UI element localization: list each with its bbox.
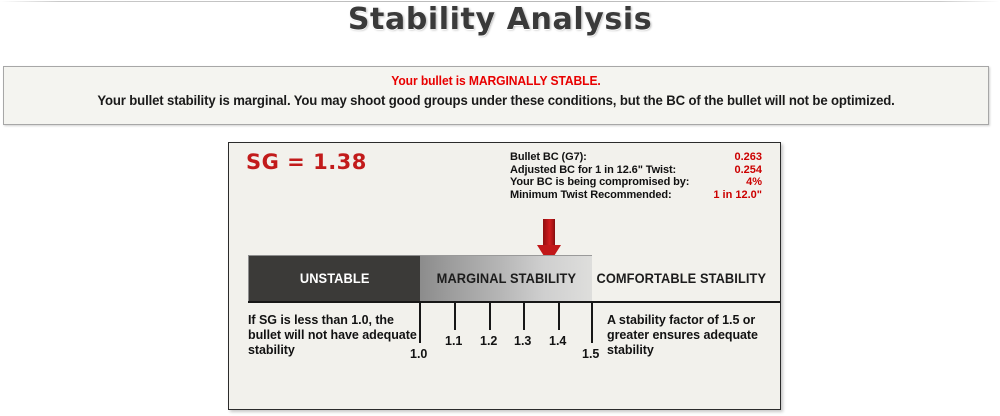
axis-tick-label: 1.3 — [514, 334, 531, 348]
stability-alert-box: Your bullet is MARGINALLY STABLE. Your b… — [3, 66, 989, 125]
axis-tick — [454, 303, 456, 330]
gauge-segment-label: MARGINAL STABILITY — [436, 271, 575, 286]
sg-readout: SG = 1.38 — [246, 150, 367, 174]
axis-tick — [489, 303, 491, 330]
bc-row-label: Bullet BC (G7): — [510, 151, 708, 164]
gauge-axis-line — [248, 301, 780, 303]
bc-row-value: 0.254 — [708, 164, 762, 177]
bc-row-value: 0.263 — [708, 151, 762, 164]
axis-tick — [591, 303, 593, 343]
stability-panel: SG = 1.38 Bullet BC (G7): 0.263 Adjusted… — [228, 142, 781, 410]
axis-tick-label: 1.4 — [549, 334, 566, 348]
stability-gauge: UNSTABLE MARGINAL STABILITY COMFORTABLE … — [248, 255, 771, 305]
gauge-segment-label: UNSTABLE — [300, 271, 370, 286]
bc-row-value: 1 in 12.0" — [708, 189, 762, 202]
unstable-description-text: If SG is less than 1.0, the bullet will … — [248, 313, 426, 358]
axis-tick — [523, 303, 525, 330]
alert-detail-text: Your bullet stability is marginal. You m… — [34, 92, 959, 108]
bc-row-label: Minimum Twist Recommended: — [510, 189, 708, 202]
page-title: Stability Analysis — [0, 2, 1000, 37]
comfortable-description-text: A stability factor of 1.5 or greater ens… — [607, 313, 777, 358]
gauge-segment-comfortable-stability: COMFORTABLE STABILITY — [592, 255, 771, 301]
arrow-shaft — [543, 219, 555, 247]
axis-tick-label: 1.5 — [582, 347, 599, 361]
table-row: Minimum Twist Recommended: 1 in 12.0" — [510, 189, 762, 202]
table-row: Your BC is being compromised by: 4% — [510, 176, 762, 189]
bc-data-table-body: Bullet BC (G7): 0.263 Adjusted BC for 1 … — [510, 151, 762, 201]
table-row: Bullet BC (G7): 0.263 — [510, 151, 762, 164]
bc-row-label: Adjusted BC for 1 in 12.6" Twist: — [510, 164, 708, 177]
gauge-segment-marginal-stability: MARGINAL STABILITY — [420, 255, 592, 301]
bc-data-table: Bullet BC (G7): 0.263 Adjusted BC for 1 … — [510, 151, 762, 201]
table-row: Adjusted BC for 1 in 12.6" Twist: 0.254 — [510, 164, 762, 177]
axis-tick-label: 1.1 — [445, 334, 462, 348]
axis-tick-label: 1.2 — [480, 334, 497, 348]
alert-headline: Your bullet is MARGINALLY STABLE. — [38, 73, 953, 88]
gauge-segment-unstable: UNSTABLE — [248, 255, 420, 301]
bc-row-value: 4% — [708, 176, 762, 189]
bc-row-label: Your BC is being compromised by: — [510, 176, 708, 189]
gauge-segment-label: COMFORTABLE STABILITY — [597, 271, 767, 286]
axis-tick — [558, 303, 560, 330]
